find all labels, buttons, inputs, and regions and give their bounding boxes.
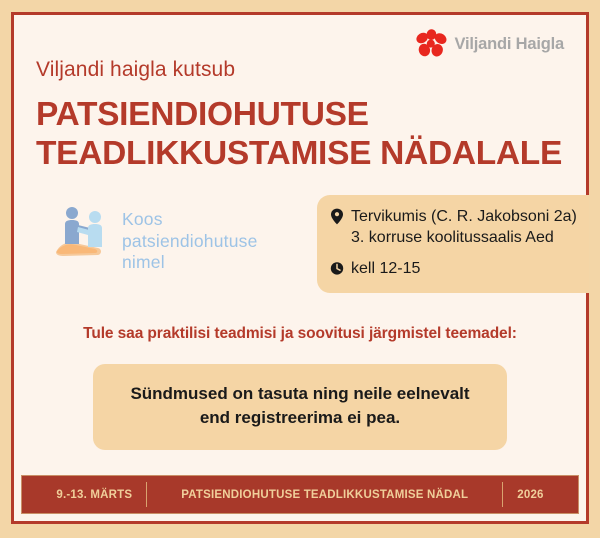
hospital-brand: Viljandi Haigla	[414, 29, 564, 60]
campaign-line-3: nimel	[122, 252, 258, 273]
brand-name: Viljandi Haigla	[455, 35, 564, 54]
info-location-line-2: 3. korruse koolitussaalis Aed	[351, 228, 577, 248]
campaign-footer-bar: 9.-13. MÄRTS PATSIENDIOHUTUSE TEADLIKKUS…	[21, 475, 579, 514]
headline-line-1: PATSIENDIOHUTUSE	[36, 95, 564, 134]
footer-wrapper: 9.-13. MÄRTS PATSIENDIOHUTUSE TEADLIKKUS…	[14, 475, 586, 521]
note-line-2: end registreerima ei pea.	[113, 406, 487, 430]
info-item-time: kell 12-15	[330, 259, 579, 279]
note-line-1: Sündmused on tasuta ning neile eelnevalt	[113, 382, 487, 406]
location-pin-icon	[330, 208, 344, 225]
flower-logo-icon	[414, 29, 448, 60]
campaign-wordmark: Koos patsiendiohutuse nimel	[122, 203, 258, 273]
free-entry-note: Sündmused on tasuta ning neile eelnevalt…	[93, 364, 507, 450]
info-time-text: kell 12-15	[351, 259, 420, 279]
topics-lead-text: Tule saa praktilisi teadmisi ja soovitus…	[14, 325, 586, 343]
campaign-line-2: patsiendiohutuse	[122, 231, 258, 252]
footer-title: PATSIENDIOHUTUSE TEADLIKKUSTAMISE NÄDAL	[147, 489, 502, 501]
kicker-text: Viljandi haigla kutsub	[36, 58, 564, 82]
info-item-location: Tervikumis (C. R. Jakobsoni 2a) 3. korru…	[330, 207, 579, 247]
poster-card: Viljandi Haigla Viljandi haigla kutsub P…	[11, 12, 589, 524]
poster-header: Viljandi Haigla Viljandi haigla kutsub P…	[14, 15, 586, 173]
event-info-box: Tervikumis (C. R. Jakobsoni 2a) 3. korru…	[317, 195, 589, 292]
info-location-text: Tervikumis (C. R. Jakobsoni 2a) 3. korru…	[351, 207, 577, 247]
campaign-line-1: Koos	[122, 209, 258, 230]
info-time-line-1: kell 12-15	[351, 259, 420, 279]
footer-year: 2026	[503, 489, 543, 501]
page-title: PATSIENDIOHUTUSE TEADLIKKUSTAMISE NÄDALA…	[36, 95, 564, 173]
mid-row: Koos patsiendiohutuse nimel Tervikumis (…	[14, 195, 586, 292]
footer-dates: 9.-13. MÄRTS	[56, 489, 146, 501]
clock-icon	[330, 260, 344, 277]
headline-line-2: TEADLIKKUSTAMISE NÄDALALE	[36, 134, 564, 173]
two-people-on-hand-icon	[54, 203, 114, 261]
bottom-spacer	[14, 450, 586, 475]
campaign-logo: Koos patsiendiohutuse nimel	[14, 195, 258, 273]
poster: Viljandi Haigla Viljandi haigla kutsub P…	[0, 0, 600, 538]
info-location-line-1: Tervikumis (C. R. Jakobsoni 2a)	[351, 207, 577, 227]
